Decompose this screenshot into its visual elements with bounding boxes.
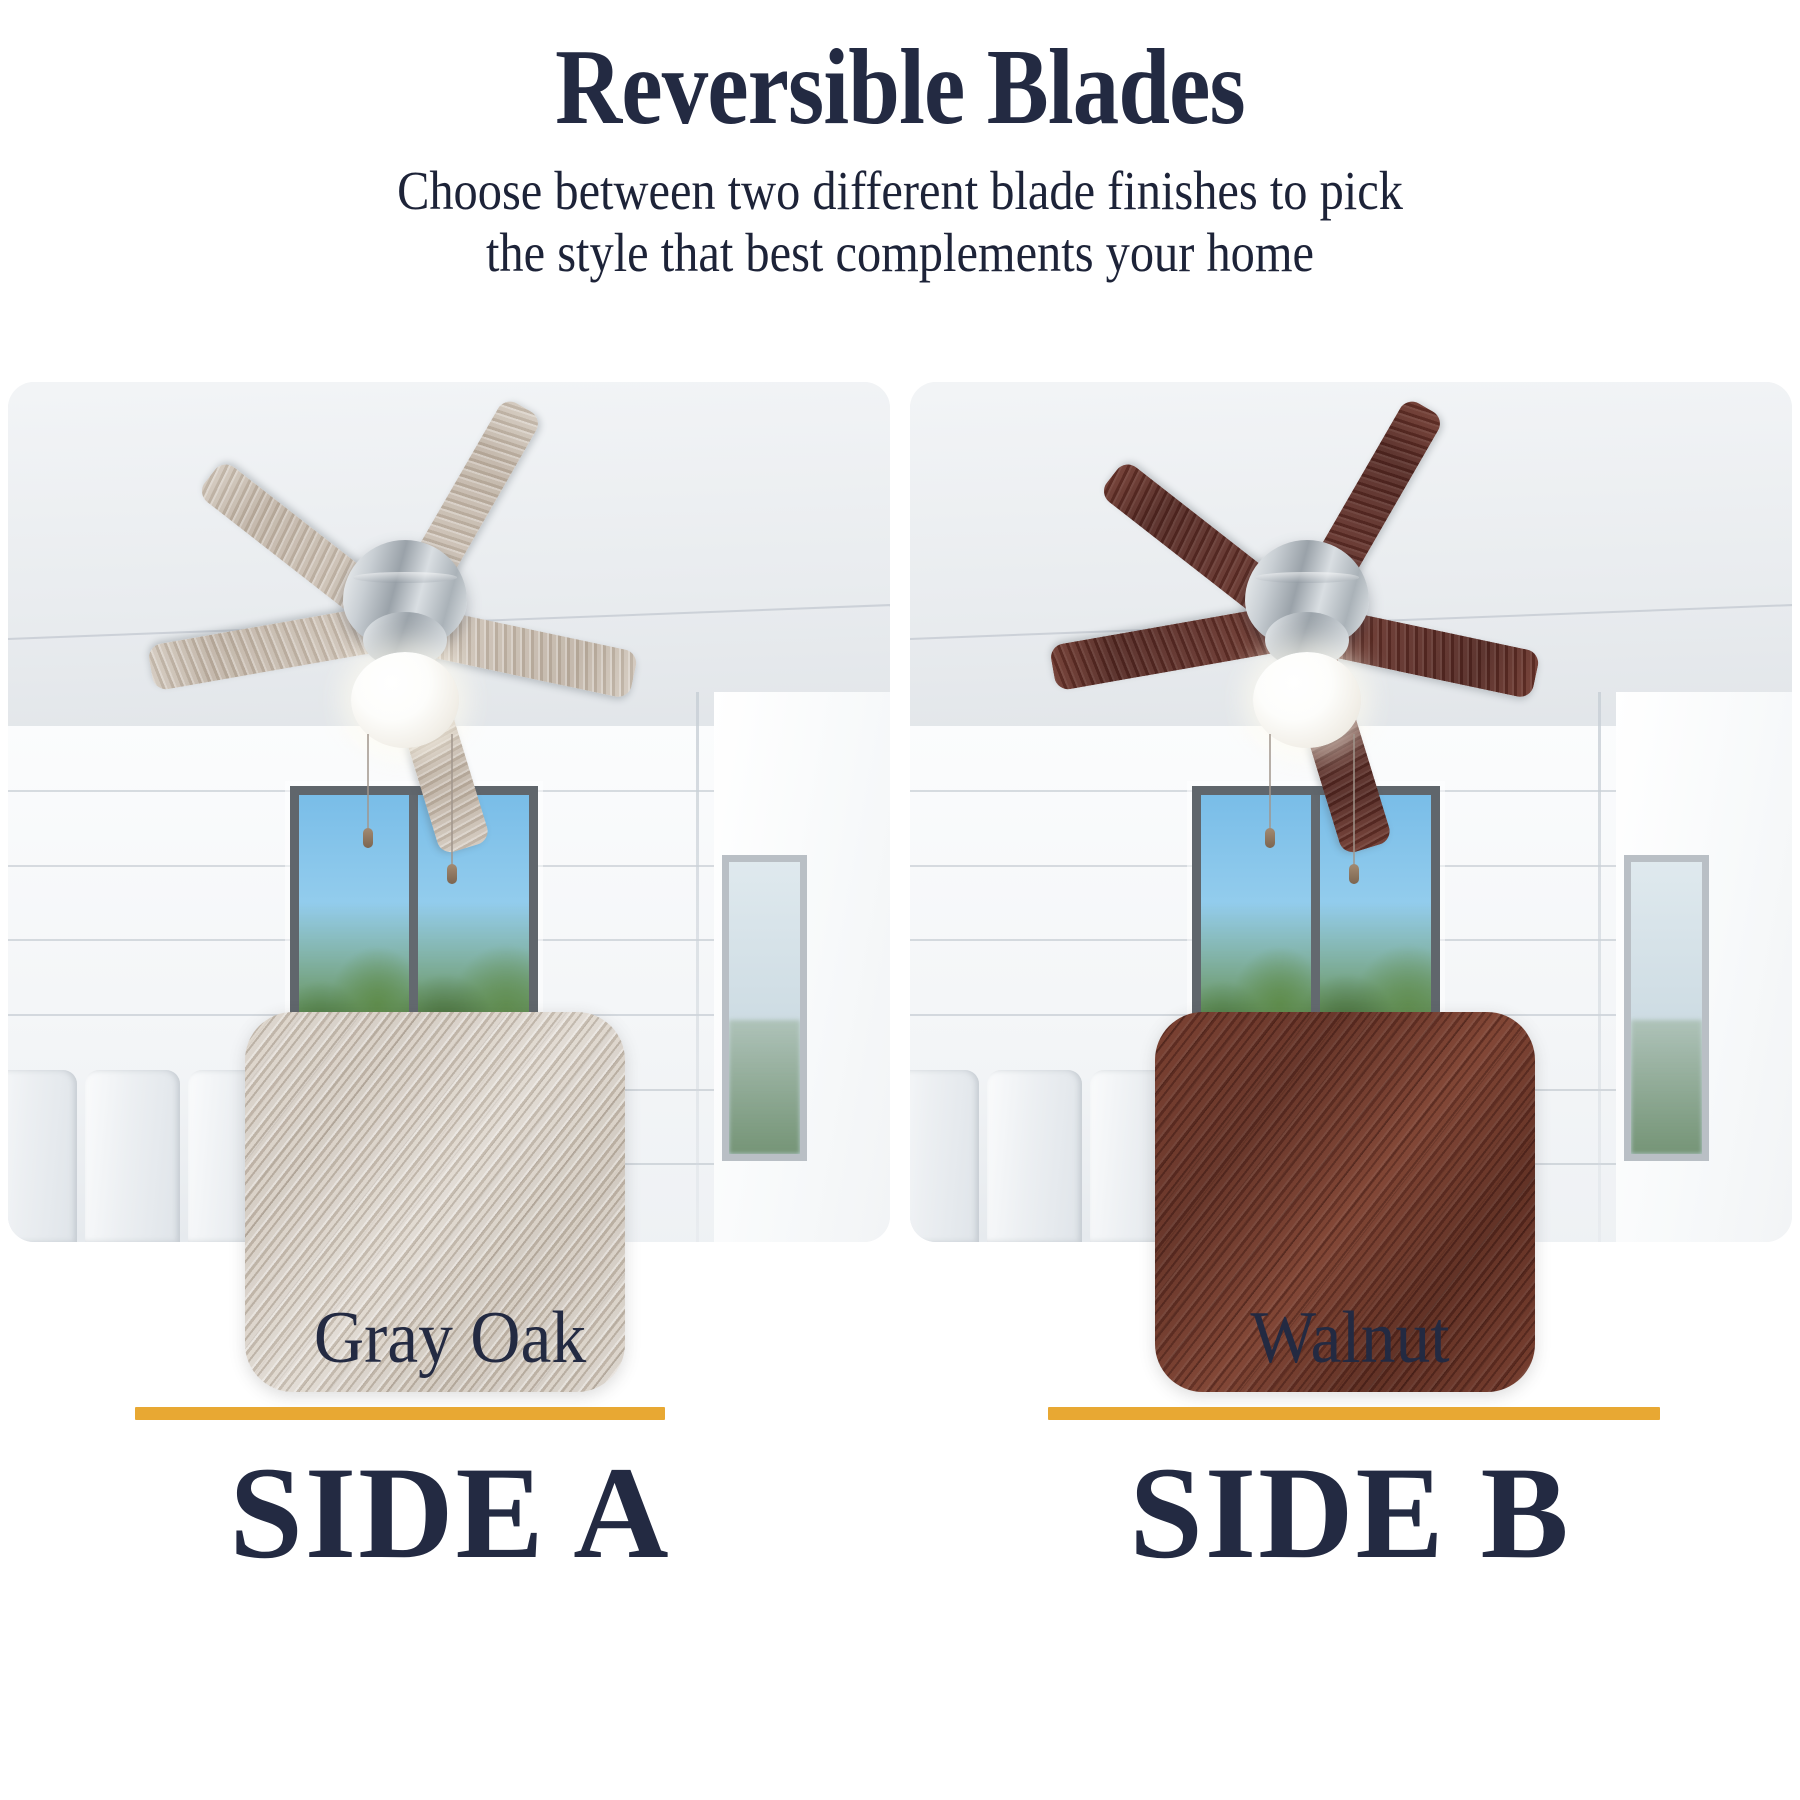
pull-chain-bead (447, 864, 457, 884)
page-subtitle: Choose between two different blade finis… (108, 142, 1692, 284)
infographic-page: Reversible Blades Choose between two dif… (0, 0, 1800, 1800)
glass-door-slot (1624, 855, 1709, 1161)
finish-name-side-b: Walnut (927, 1250, 1773, 1381)
gold-divider-rule (1048, 1407, 1660, 1420)
pull-chain (1353, 734, 1355, 884)
pull-chain (1269, 734, 1271, 848)
footer-side-a: Gray Oak SIDE A (0, 1250, 900, 1589)
pull-chain (367, 734, 369, 848)
footer-side-b: Walnut SIDE B (900, 1250, 1800, 1589)
page-title: Reversible Blades (126, 0, 1674, 142)
pull-chain-bead (1349, 864, 1359, 884)
side-label-a: SIDE A (0, 1420, 900, 1589)
header: Reversible Blades Choose between two dif… (0, 0, 1800, 284)
pull-chain (451, 734, 453, 884)
side-label-b: SIDE B (900, 1420, 1800, 1589)
glass-door-slot (722, 855, 807, 1161)
finish-name-side-a: Gray Oak (27, 1250, 873, 1381)
pull-chain-bead (363, 828, 373, 848)
pull-chain-bead (1265, 828, 1275, 848)
gold-divider-rule (135, 1407, 665, 1420)
